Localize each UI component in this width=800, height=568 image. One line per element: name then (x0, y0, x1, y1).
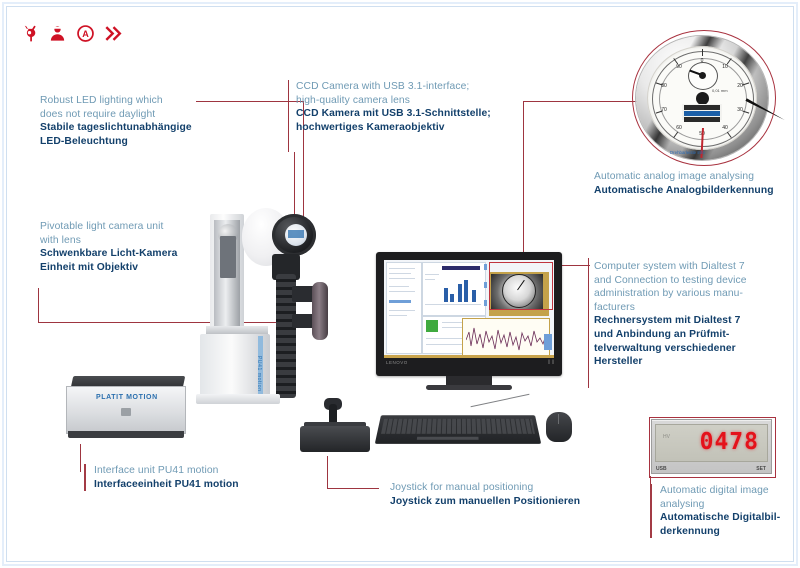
load-handle (312, 282, 328, 340)
callout-pivotable-unit: Pivotable light camera unit with lens Sc… (40, 220, 210, 274)
leader-line-joystick-v (327, 456, 328, 488)
gauge-highlight-outline (632, 30, 776, 166)
diagram-page: A Robust LED lighting which does not req… (0, 0, 800, 568)
callout-joystick-en-1: Joystick for manual positioning (390, 481, 620, 495)
callout-pivot-en-2: with lens (40, 234, 210, 248)
callout-digital-analysis: Automatic digital image analysing Automa… (650, 484, 800, 538)
callout-led-de-1: Stabile tageslichtunabhängige (40, 121, 200, 135)
signal-trace (466, 322, 546, 354)
callout-computer-system: Computer system with Dialtest 7 and Conn… (594, 260, 792, 369)
callout-ccd-de-2: hochwertiges Kameraobjektiv (296, 121, 508, 135)
fast-forward-icon (104, 24, 123, 43)
plug-icon (20, 24, 39, 43)
callout-computer-de-1: Rechnersystem mit Dialtest 7 (594, 314, 792, 328)
callout-ccd-en-2: high-quality camera lens (296, 94, 508, 108)
callout-interface-en-1: Interface unit PU41 motion (94, 464, 314, 478)
callout-led-en-2: does not require daylight (40, 108, 200, 122)
callout-computer-en-1: Computer system with Dialtest 7 (594, 260, 792, 274)
monitor-brand-label: LENOVO (386, 360, 408, 365)
tester-slide (220, 236, 236, 278)
callout-led-en-1: Robust LED lighting which (40, 94, 200, 108)
camera-brand-label (288, 230, 304, 238)
tester-brand-label: PU41 motion (256, 356, 262, 392)
callout-digital-de-2: derkennung (660, 525, 800, 539)
callout-joystick: Joystick for manual positioning Joystick… (390, 481, 620, 508)
interface-unit-pu41: PLATIT MOTION (66, 376, 188, 444)
keyboard-body (375, 415, 541, 444)
callout-computer-en-3: administration by various manu- (594, 287, 792, 301)
interface-unit-base (68, 431, 184, 438)
automatic-a-icon: A (76, 24, 95, 43)
mouse-button-split (558, 414, 559, 424)
svg-text:A: A (82, 29, 89, 39)
joystick-base (300, 426, 370, 452)
callout-computer-en-4: facturers (594, 301, 792, 315)
keyboard-keys (381, 419, 535, 434)
hardness-tester: PU41 motion (196, 206, 346, 411)
callout-computer-de-4: Hersteller (594, 355, 792, 369)
callout-ccd-de-1: CCD Kamera mit USB 3.1-Schnittstelle; (296, 107, 508, 121)
leader-line-gauge-h (523, 101, 643, 102)
leader-line-computer-bar (588, 258, 589, 388)
interface-unit-brand: PLATIT MOTION (96, 394, 158, 401)
monitor-screen-taskbar (384, 355, 554, 358)
keyboard-spacebar (417, 437, 479, 440)
callout-analog-en-1: Automatic analog image analysing (594, 170, 794, 184)
callout-digital-en-2: analysing (660, 498, 800, 512)
callout-pivot-en-1: Pivotable light camera unit (40, 220, 210, 234)
operator-icon (48, 24, 67, 43)
callout-pivot-de-2: Einheit mit Objektiv (40, 261, 210, 275)
mouse-body (546, 412, 572, 442)
callout-joystick-de-1: Joystick zum manuellen Positionieren (390, 495, 620, 509)
callout-computer-de-2: und Anbindung an Prüfmit- (594, 328, 792, 342)
tester-foot (196, 394, 280, 404)
screen-panel-chart (422, 262, 486, 316)
mouse (546, 412, 572, 442)
callout-ccd-en-1: CCD Camera with USB 3.1-interface; (296, 80, 508, 94)
monitor-stand-foot (426, 385, 512, 390)
screen-inset-highlight-outline (489, 262, 553, 310)
icon-strip: A (20, 24, 123, 43)
joystick-controller (300, 404, 370, 456)
callout-analog-analysis: Automatic analog image analysing Automat… (594, 170, 794, 197)
callout-computer-de-3: telverwaltung verschiedener (594, 342, 792, 356)
callout-analog-de-1: Automatische Analogbilderkennung (594, 184, 794, 198)
callout-interface-unit: Interface unit PU41 motion Interfaceeinh… (84, 464, 314, 491)
interface-unit-port (121, 408, 131, 416)
callout-interface-de-1: Interfaceeinheit PU41 motion (94, 478, 314, 492)
screen-signal-chart (462, 318, 550, 355)
monitor-indicator-label: || || (548, 359, 554, 364)
callout-led-de-2: LED-Beleuchtung (40, 135, 200, 149)
screen-panel-left (386, 262, 422, 354)
leader-line-ccd-bar (288, 80, 289, 152)
monitor-stand-neck (446, 376, 492, 385)
callout-digital-de-1: Automatische Digitalbil- (660, 511, 800, 525)
leader-line-joystick-h (327, 488, 379, 489)
callout-digital-en-1: Automatic digital image (660, 484, 800, 498)
callout-computer-en-2: and Connection to testing device (594, 274, 792, 288)
callout-pivot-de-1: Schwenkbare Licht-Kamera (40, 247, 210, 261)
leader-line-pivot-v (38, 288, 39, 323)
leader-line-gauge-v (523, 101, 524, 265)
leader-line-interface-v (80, 444, 81, 472)
digital-display-highlight-outline (649, 417, 776, 478)
callout-ccd-camera: CCD Camera with USB 3.1-interface; high-… (296, 80, 508, 134)
callout-led-lighting: Robust LED lighting which does not requi… (40, 94, 200, 148)
keyboard (378, 414, 538, 444)
